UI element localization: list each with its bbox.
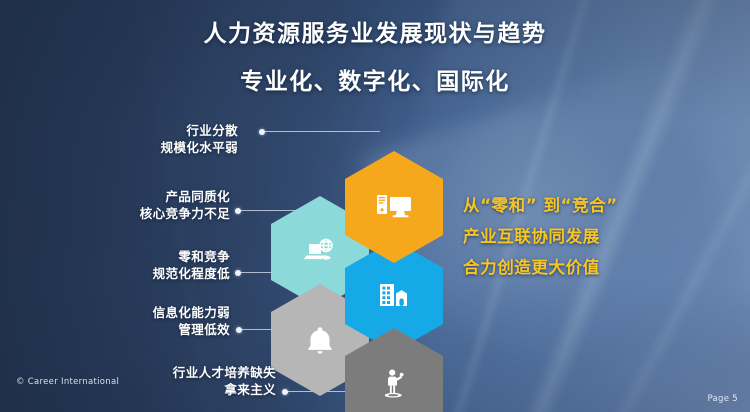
connector-dot-5: [282, 389, 288, 395]
highlight-line-2: 产业互联协同发展: [463, 221, 618, 252]
desktop-computer-icon: [375, 192, 413, 222]
highlight-line-1: 从“零和” 到“竞合”: [463, 190, 618, 221]
highlight-line-3: 合力创造更大价值: [463, 252, 618, 283]
bell-icon: [305, 324, 335, 356]
issue-label-1-line2: 规模化水平弱: [60, 139, 238, 156]
issue-label-2-line1: 产品同质化: [44, 188, 230, 205]
issue-label-4: 信息化能力弱 管理低效: [44, 304, 230, 338]
connector-line-2: [238, 210, 298, 211]
copyright-notice: © Career International: [16, 377, 119, 387]
laptop-globe-icon: [303, 237, 337, 267]
slide-canvas: 人力资源服务业发展现状与趋势 专业化、数字化、国际化 行业分散 规模化水平弱 产…: [0, 0, 750, 412]
issue-label-3: 零和竞争 规范化程度低: [44, 248, 230, 282]
title-block: 人力资源服务业发展现状与趋势 专业化、数字化、国际化: [0, 17, 750, 99]
connector-dot-1: [259, 129, 265, 135]
issue-label-2-line2: 核心竞争力不足: [44, 205, 230, 222]
issue-label-4-line2: 管理低效: [44, 321, 230, 338]
person-presenter-icon: [379, 368, 409, 400]
connector-dot-2: [235, 208, 241, 214]
page-title: 人力资源服务业发展现状与趋势: [0, 17, 750, 51]
issue-label-4-line1: 信息化能力弱: [44, 304, 230, 321]
issue-label-1: 行业分散 规模化水平弱: [60, 122, 238, 156]
office-buildings-icon: [377, 281, 411, 311]
issue-label-1-line1: 行业分散: [60, 122, 238, 139]
page-number: Page 5: [708, 394, 739, 404]
issue-label-3-line1: 零和竞争: [44, 248, 230, 265]
connector-dot-3: [235, 270, 241, 276]
issue-label-2: 产品同质化 核心竞争力不足: [44, 188, 230, 222]
connector-line-1: [262, 131, 380, 132]
highlight-block: 从“零和” 到“竞合” 产业互联协同发展 合力创造更大价值: [463, 190, 618, 283]
issue-label-3-line2: 规范化程度低: [44, 265, 230, 282]
connector-dot-4: [236, 327, 242, 333]
page-subtitle: 专业化、数字化、国际化: [0, 65, 750, 99]
